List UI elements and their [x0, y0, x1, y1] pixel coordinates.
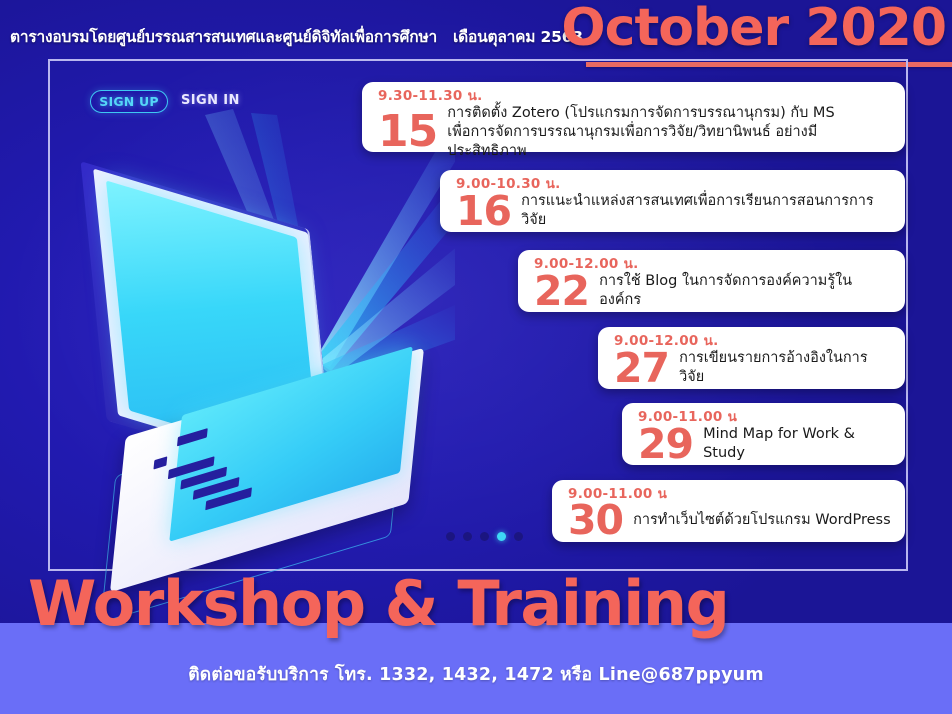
- organizer-label: ตารางอบรมโดยศูนย์บรรณสารสนเทศและศูนย์ดิจ…: [10, 28, 437, 46]
- title-underline-rule: [586, 62, 952, 67]
- event-title: การทำเว็บไซต์ด้วยโปรแกรม WordPress: [633, 511, 891, 530]
- event-title: การติดตั้ง Zotero (โปรแกรมการจัดการบรรณา…: [447, 104, 891, 161]
- event-card-16[interactable]: 9.00-10.30 น. 16 การแนะนำแหล่งสารสนเทศเพ…: [440, 170, 905, 232]
- carousel-dots[interactable]: [446, 532, 523, 541]
- event-day: 27: [614, 350, 669, 386]
- event-time: 9.30-11.30 น.: [378, 89, 891, 103]
- workshop-heading: Workshop & Training: [28, 573, 728, 635]
- event-card-30[interactable]: 9.00-11.00 น 30 การทำเว็บไซต์ด้วยโปรแกรม…: [552, 480, 905, 542]
- event-title-line-1: การติดตั้ง Zotero (โปรแกรมการจัดการบรรณา…: [447, 104, 891, 123]
- carousel-dot-2[interactable]: [463, 532, 472, 541]
- event-day: 29: [638, 426, 693, 462]
- event-time: 9.00-10.30 น.: [456, 177, 891, 191]
- contact-info: ติดต่อขอรับบริการ โทร. 1332, 1432, 1472 …: [0, 660, 952, 688]
- event-card-29[interactable]: 9.00-11.00 น 29 Mind Map for Work & Stud…: [622, 403, 905, 465]
- event-card-22[interactable]: 9.00-12.00 น. 22 การใช้ Blog ในการจัดการ…: [518, 250, 905, 312]
- event-title: Mind Map for Work & Study: [703, 425, 891, 463]
- page-title: October 2020: [561, 2, 946, 54]
- event-title: การแนะนำแหล่งสารสนเทศเพื่อการเรียนการสอน…: [521, 192, 891, 230]
- carousel-dot-4-active[interactable]: [497, 532, 506, 541]
- carousel-dot-5[interactable]: [514, 532, 523, 541]
- event-card-15[interactable]: 9.30-11.30 น. 15 การติดตั้ง Zotero (โปรแ…: [362, 82, 905, 152]
- event-day: 16: [456, 193, 511, 229]
- carousel-dot-1[interactable]: [446, 532, 455, 541]
- event-day: 30: [568, 502, 623, 538]
- sign-in-link[interactable]: SIGN IN: [181, 93, 240, 108]
- event-title: การเขียนรายการอ้างอิงในการวิจัย: [679, 349, 891, 387]
- sign-up-button[interactable]: SIGN UP: [90, 90, 168, 113]
- event-title-line-2: เพื่อการจัดการบรรณานุกรมเพื่อการวิจัย/วิ…: [447, 123, 891, 161]
- event-card-27[interactable]: 9.00-12.00 น. 27 การเขียนรายการอ้างอิงใน…: [598, 327, 905, 389]
- carousel-dot-3[interactable]: [480, 532, 489, 541]
- laptop-illustration: [55, 95, 455, 555]
- event-title: การใช้ Blog ในการจัดการองค์ความรู้ในองค์…: [599, 272, 891, 310]
- event-day: 22: [534, 273, 589, 309]
- poster-canvas: ตารางอบรมโดยศูนย์บรรณสารสนเทศและศูนย์ดิจ…: [0, 0, 952, 714]
- event-day: 15: [378, 113, 437, 152]
- header-organizer-text: ตารางอบรมโดยศูนย์บรรณสารสนเทศและศูนย์ดิจ…: [10, 24, 590, 49]
